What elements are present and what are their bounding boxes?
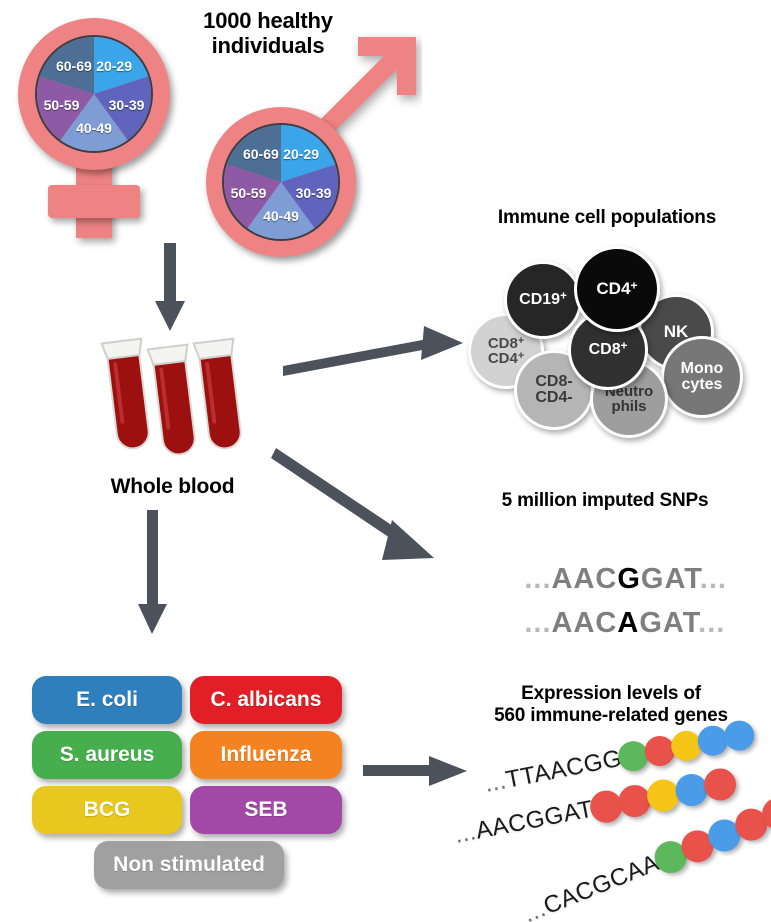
age-label-60-69: 60-69: [56, 58, 92, 74]
blood-tubes-group: [95, 335, 255, 465]
age-label-60-69: 60-69: [243, 146, 279, 162]
stimulus-s-aureus[interactable]: S. aureus: [32, 731, 182, 779]
snp-tail: ...: [698, 607, 725, 639]
cell-label: CD19+: [519, 292, 567, 308]
stimulus-e-coli[interactable]: E. coli: [32, 676, 182, 724]
male-age-pie: 20-2930-3940-4950-5960-69: [222, 123, 340, 241]
snp-suffix: GAT: [639, 607, 698, 639]
stimulus-label: SEB: [244, 798, 287, 822]
genes-heading: Expression levels of 560 immune-related …: [458, 683, 764, 727]
gene-strand-sequence: ...AACGGAT: [452, 795, 595, 849]
cell-monocytes: Monocytes: [661, 336, 743, 418]
age-label-40-49: 40-49: [76, 120, 112, 136]
gene-strands-group: ...TTAACGG ...AACGGAT ...CACGCAA: [455, 740, 771, 915]
genes-heading-line1: Expression levels of: [458, 683, 764, 705]
stimulus-label: C. albicans: [211, 688, 322, 712]
age-label-40-49: 40-49: [263, 208, 299, 224]
stimulus-label: E. coli: [76, 688, 138, 712]
cell-label: CD8+: [589, 342, 628, 358]
stimulus-c-albicans[interactable]: C. albicans: [190, 676, 342, 724]
stimulus-influenza[interactable]: Influenza: [190, 731, 342, 779]
stimulus-seb[interactable]: SEB: [190, 786, 342, 834]
figure-canvas: 1000 healthy individuals 20-2930-3940-49…: [0, 0, 771, 922]
arrow-blood-to-snps: [276, 448, 446, 573]
stimulus-label: Influenza: [220, 743, 311, 767]
cell-label: CD4+: [596, 280, 637, 297]
male-symbol: 20-2930-3940-4950-5960-69: [200, 85, 430, 275]
immune-cells-heading: Immune cell populations: [452, 207, 762, 229]
age-label-30-39: 30-39: [296, 185, 332, 201]
stimulus-non-stimulated[interactable]: Non stimulated: [94, 841, 284, 889]
gene-bead: [722, 718, 757, 753]
female-symbol-horizontal-stem: [48, 185, 140, 218]
arrow-down-cohort-to-blood: [150, 243, 190, 338]
age-label-50-59: 50-59: [44, 97, 80, 113]
snp-variant: A: [617, 607, 639, 639]
whole-blood-label: Whole blood: [80, 475, 265, 499]
cell-label: Monocytes: [681, 361, 724, 394]
snp-sequences-group: ...AACGGAT... ...AACAGAT...: [470, 530, 750, 620]
cell-cd4: CD4+: [574, 246, 660, 332]
snp-sequence-row: ...AACAGAT...: [470, 574, 725, 673]
stimulus-label: S. aureus: [60, 743, 155, 767]
gene-bead: [701, 766, 739, 804]
cell-cd19: CD19+: [504, 261, 582, 339]
age-label-50-59: 50-59: [231, 185, 267, 201]
cell-label: CD8-CD4-: [535, 374, 572, 407]
snps-heading: 5 million imputed SNPs: [455, 490, 755, 512]
cell-label: NK: [664, 323, 689, 340]
stimulus-bcg[interactable]: BCG: [32, 786, 182, 834]
age-label-30-39: 30-39: [109, 97, 145, 113]
cell-label: CD8+CD4+: [488, 336, 524, 367]
arrow-blood-to-immune-cells: [283, 326, 468, 386]
stimulus-label: BCG: [84, 798, 131, 822]
gene-strand-sequence: ...CACGCAA: [520, 849, 664, 922]
snp-lead: ...: [524, 607, 551, 639]
arrow-down-blood-to-stimuli: [133, 510, 173, 640]
age-label-20-29: 20-29: [283, 146, 319, 162]
stimuli-group: E. coli C. albicans S. aureus Influenza …: [32, 676, 342, 896]
snp-prefix: AAC: [552, 607, 618, 639]
female-age-pie: 20-2930-3940-4950-5960-69: [35, 35, 153, 153]
female-symbol: 20-2930-3940-4950-5960-69: [10, 12, 200, 242]
stimulus-label: Non stimulated: [113, 853, 265, 877]
age-label-20-29: 20-29: [96, 58, 132, 74]
immune-cells-group: CD8+CD4+ CD19+ CD4+ NK CD8+ Monocytes CD…: [452, 240, 764, 430]
